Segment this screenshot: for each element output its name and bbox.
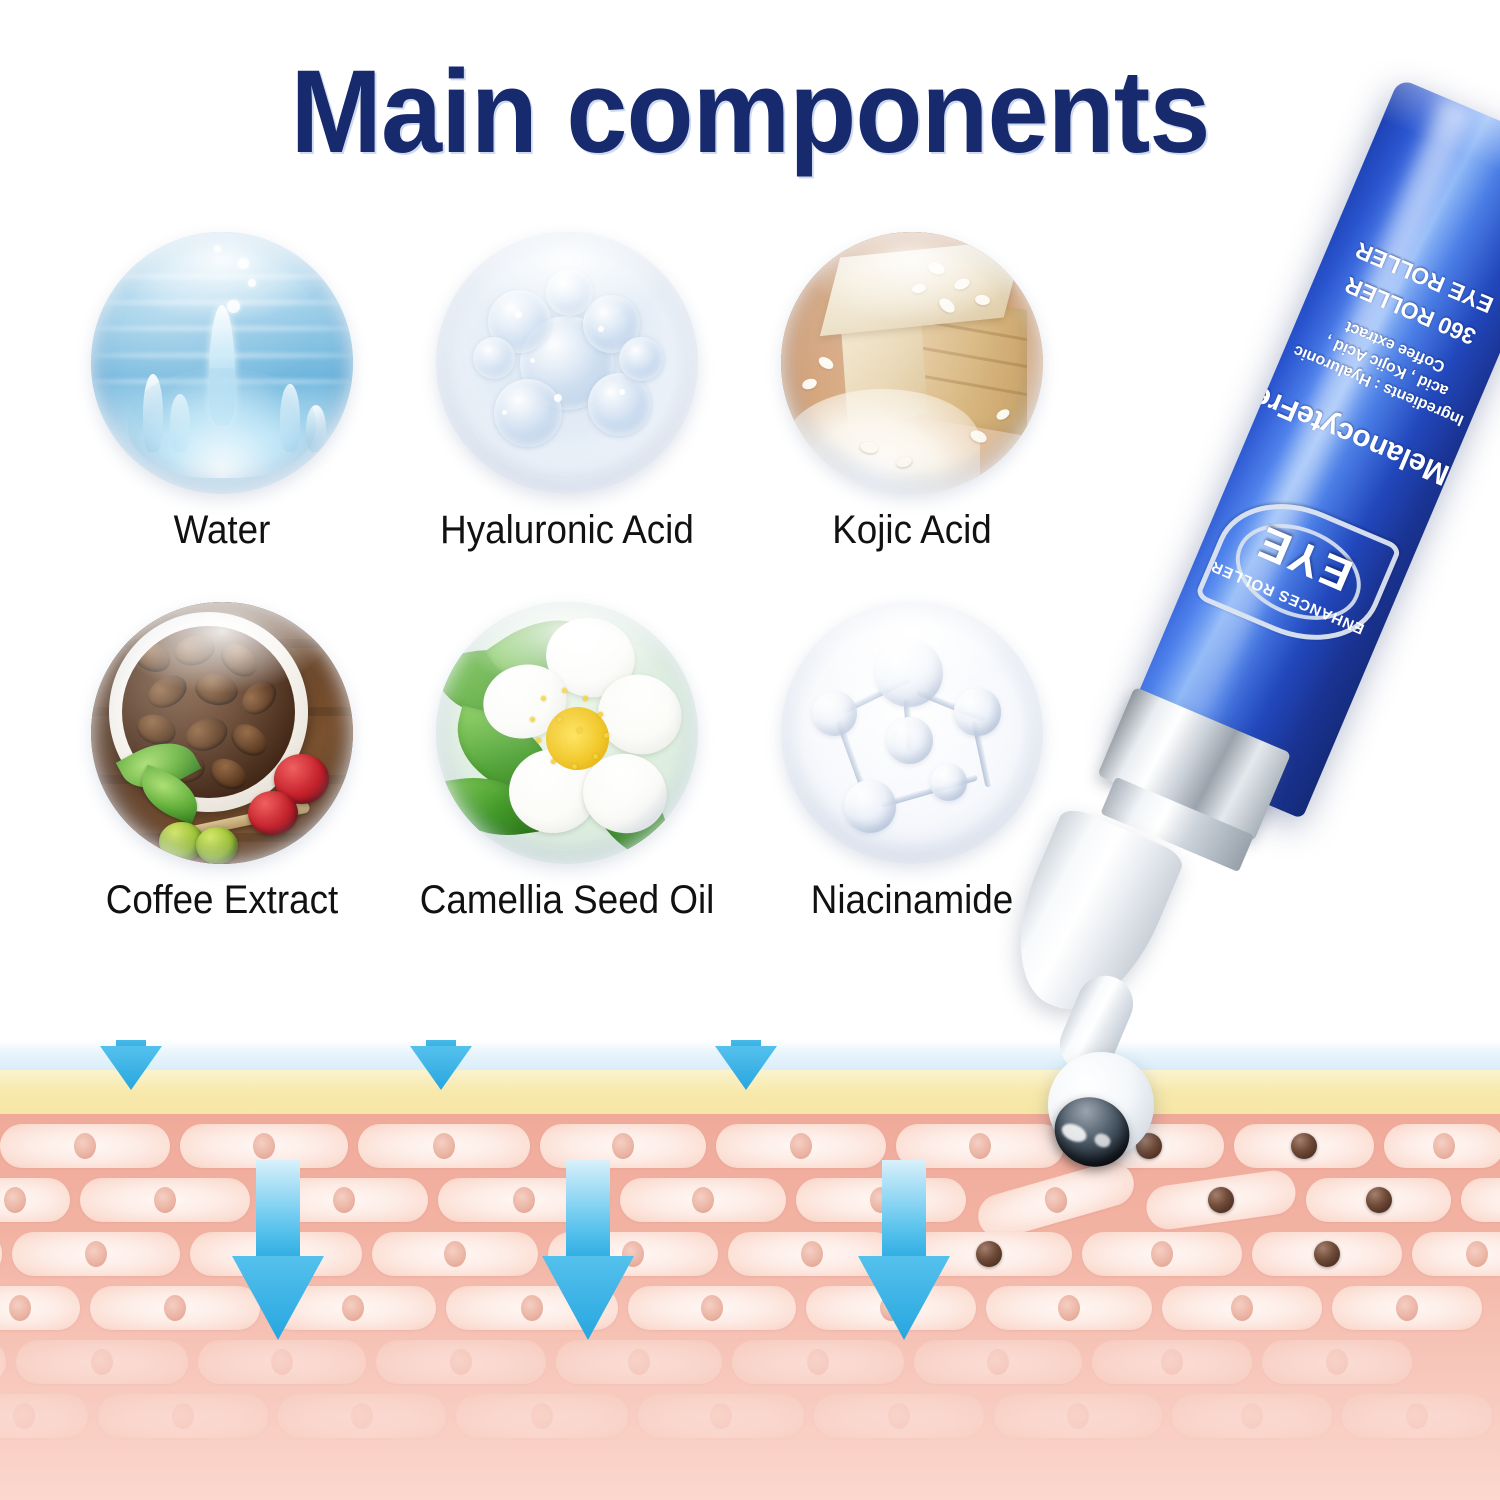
absorption-arrow-deep (858, 1160, 950, 1340)
ingredient-card-hyaluronic-acid[interactable]: Hyaluronic Acid (407, 232, 727, 572)
absorption-arrow-deep (542, 1160, 634, 1340)
absorption-arrow-deep (232, 1160, 324, 1340)
clear-gel-sphere-icon (436, 232, 698, 494)
water-splash-sphere-icon (91, 232, 353, 494)
product-eye-roller[interactable]: EYE ROLLER 360 ROLLER Ingredients : Hyal… (960, 130, 1500, 1090)
dermis-layer (0, 1114, 1500, 1500)
cell-row (0, 1232, 1500, 1284)
cell-row (0, 1124, 1500, 1176)
ingredient-label: Coffee Extract (75, 878, 369, 923)
ingredient-label: Camellia Seed Oil (420, 878, 714, 923)
eye-badge-logo: ENHANCES ROLLER EYE (1194, 479, 1402, 664)
cell-row (0, 1178, 1500, 1230)
ingredient-card-water[interactable]: Water (62, 232, 382, 572)
ingredient-label: Water (75, 508, 369, 553)
absorption-arrow-top (715, 1040, 777, 1090)
absorption-arrow-top (100, 1040, 162, 1090)
white-camellia-flower-sphere-icon (436, 602, 698, 864)
cell-row (0, 1394, 1500, 1446)
ingredient-card-coffee-extract[interactable]: Coffee Extract (62, 602, 382, 942)
ingredient-grid: Water Hyaluronic Acid (62, 232, 1072, 952)
skin-cross-section-diagram (0, 1040, 1500, 1500)
cell-row (0, 1286, 1500, 1338)
ingredient-label: Hyaluronic Acid (420, 508, 714, 553)
coffee-beans-bowl-sphere-icon (91, 602, 353, 864)
absorption-arrow-top (410, 1040, 472, 1090)
cell-row (0, 1340, 1500, 1392)
ingredient-card-camellia-seed-oil[interactable]: Camellia Seed Oil (407, 602, 727, 942)
